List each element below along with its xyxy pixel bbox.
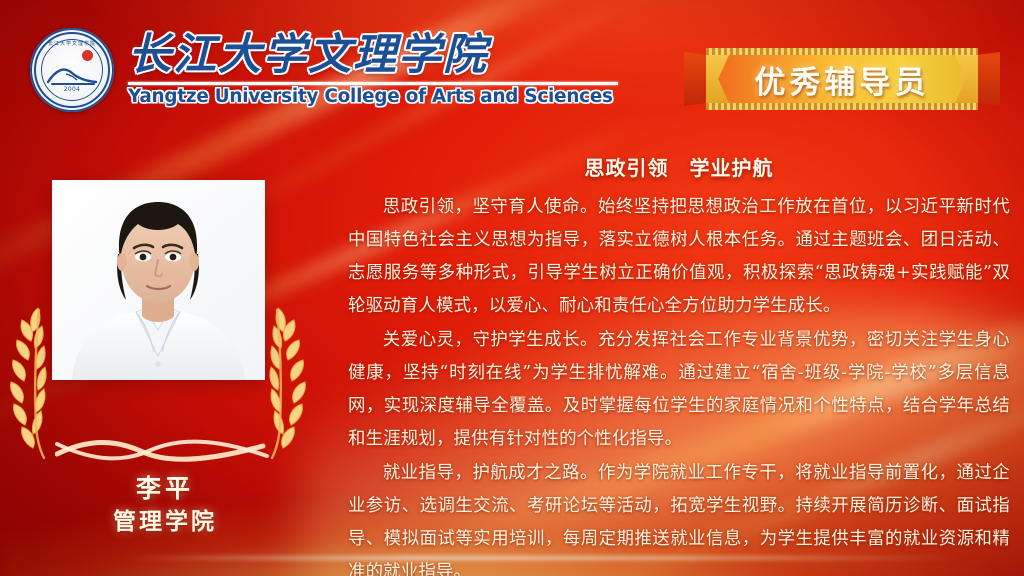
university-name-en: Yangtze University College of Arts and S… <box>128 88 613 107</box>
crossed-ribbon-icon <box>55 432 270 468</box>
profile-name: 李平 <box>40 472 290 506</box>
portrait-photo <box>52 180 265 380</box>
award-poster: 长江大学文理学院 2004 长江大学文理学院 Yangtze Universit… <box>0 0 1024 576</box>
crest-year: 2004 <box>30 86 114 93</box>
crest-mountain-icon <box>46 64 98 86</box>
portrait-image <box>52 180 265 380</box>
university-logo: 长江大学文理学院 2004 长江大学文理学院 Yangtze Universit… <box>30 28 618 112</box>
university-crest-icon: 长江大学文理学院 2004 <box>30 28 114 112</box>
crest-sun-icon <box>82 50 93 61</box>
profile-department: 管理学院 <box>40 506 290 537</box>
logo-divider <box>128 82 618 85</box>
article-paragraph: 就业指导，护航成才之路。作为学院就业工作专干，将就业指导前置化，通过企业参访、选… <box>348 457 1010 576</box>
award-banner: 优秀辅导员 <box>706 48 978 110</box>
article-body: 思政引领 学业护航 思政引领，坚守育人使命。始终坚持把思想政治工作放在首位，以习… <box>348 152 1010 576</box>
crest-ring-text-cn: 长江大学文理学院 <box>30 40 114 47</box>
profile-identity: 李平 管理学院 <box>40 472 290 537</box>
article-title: 思政引领 学业护航 <box>348 152 1010 181</box>
award-banner-label: 优秀辅导员 <box>706 48 978 110</box>
portrait-area <box>0 160 350 490</box>
university-name-block: 长江大学文理学院 Yangtze University College of A… <box>128 34 618 107</box>
article-paragraph: 思政引领，坚守育人使命。始终坚持把思想政治工作放在首位，以习近平新时代中国特色社… <box>348 191 1010 323</box>
university-name-cn: 长江大学文理学院 <box>128 34 618 77</box>
article-paragraph: 关爱心灵，守护学生成长。充分发挥社会工作专业背景优势，密切关注学生身心健康，坚持… <box>348 324 1010 456</box>
